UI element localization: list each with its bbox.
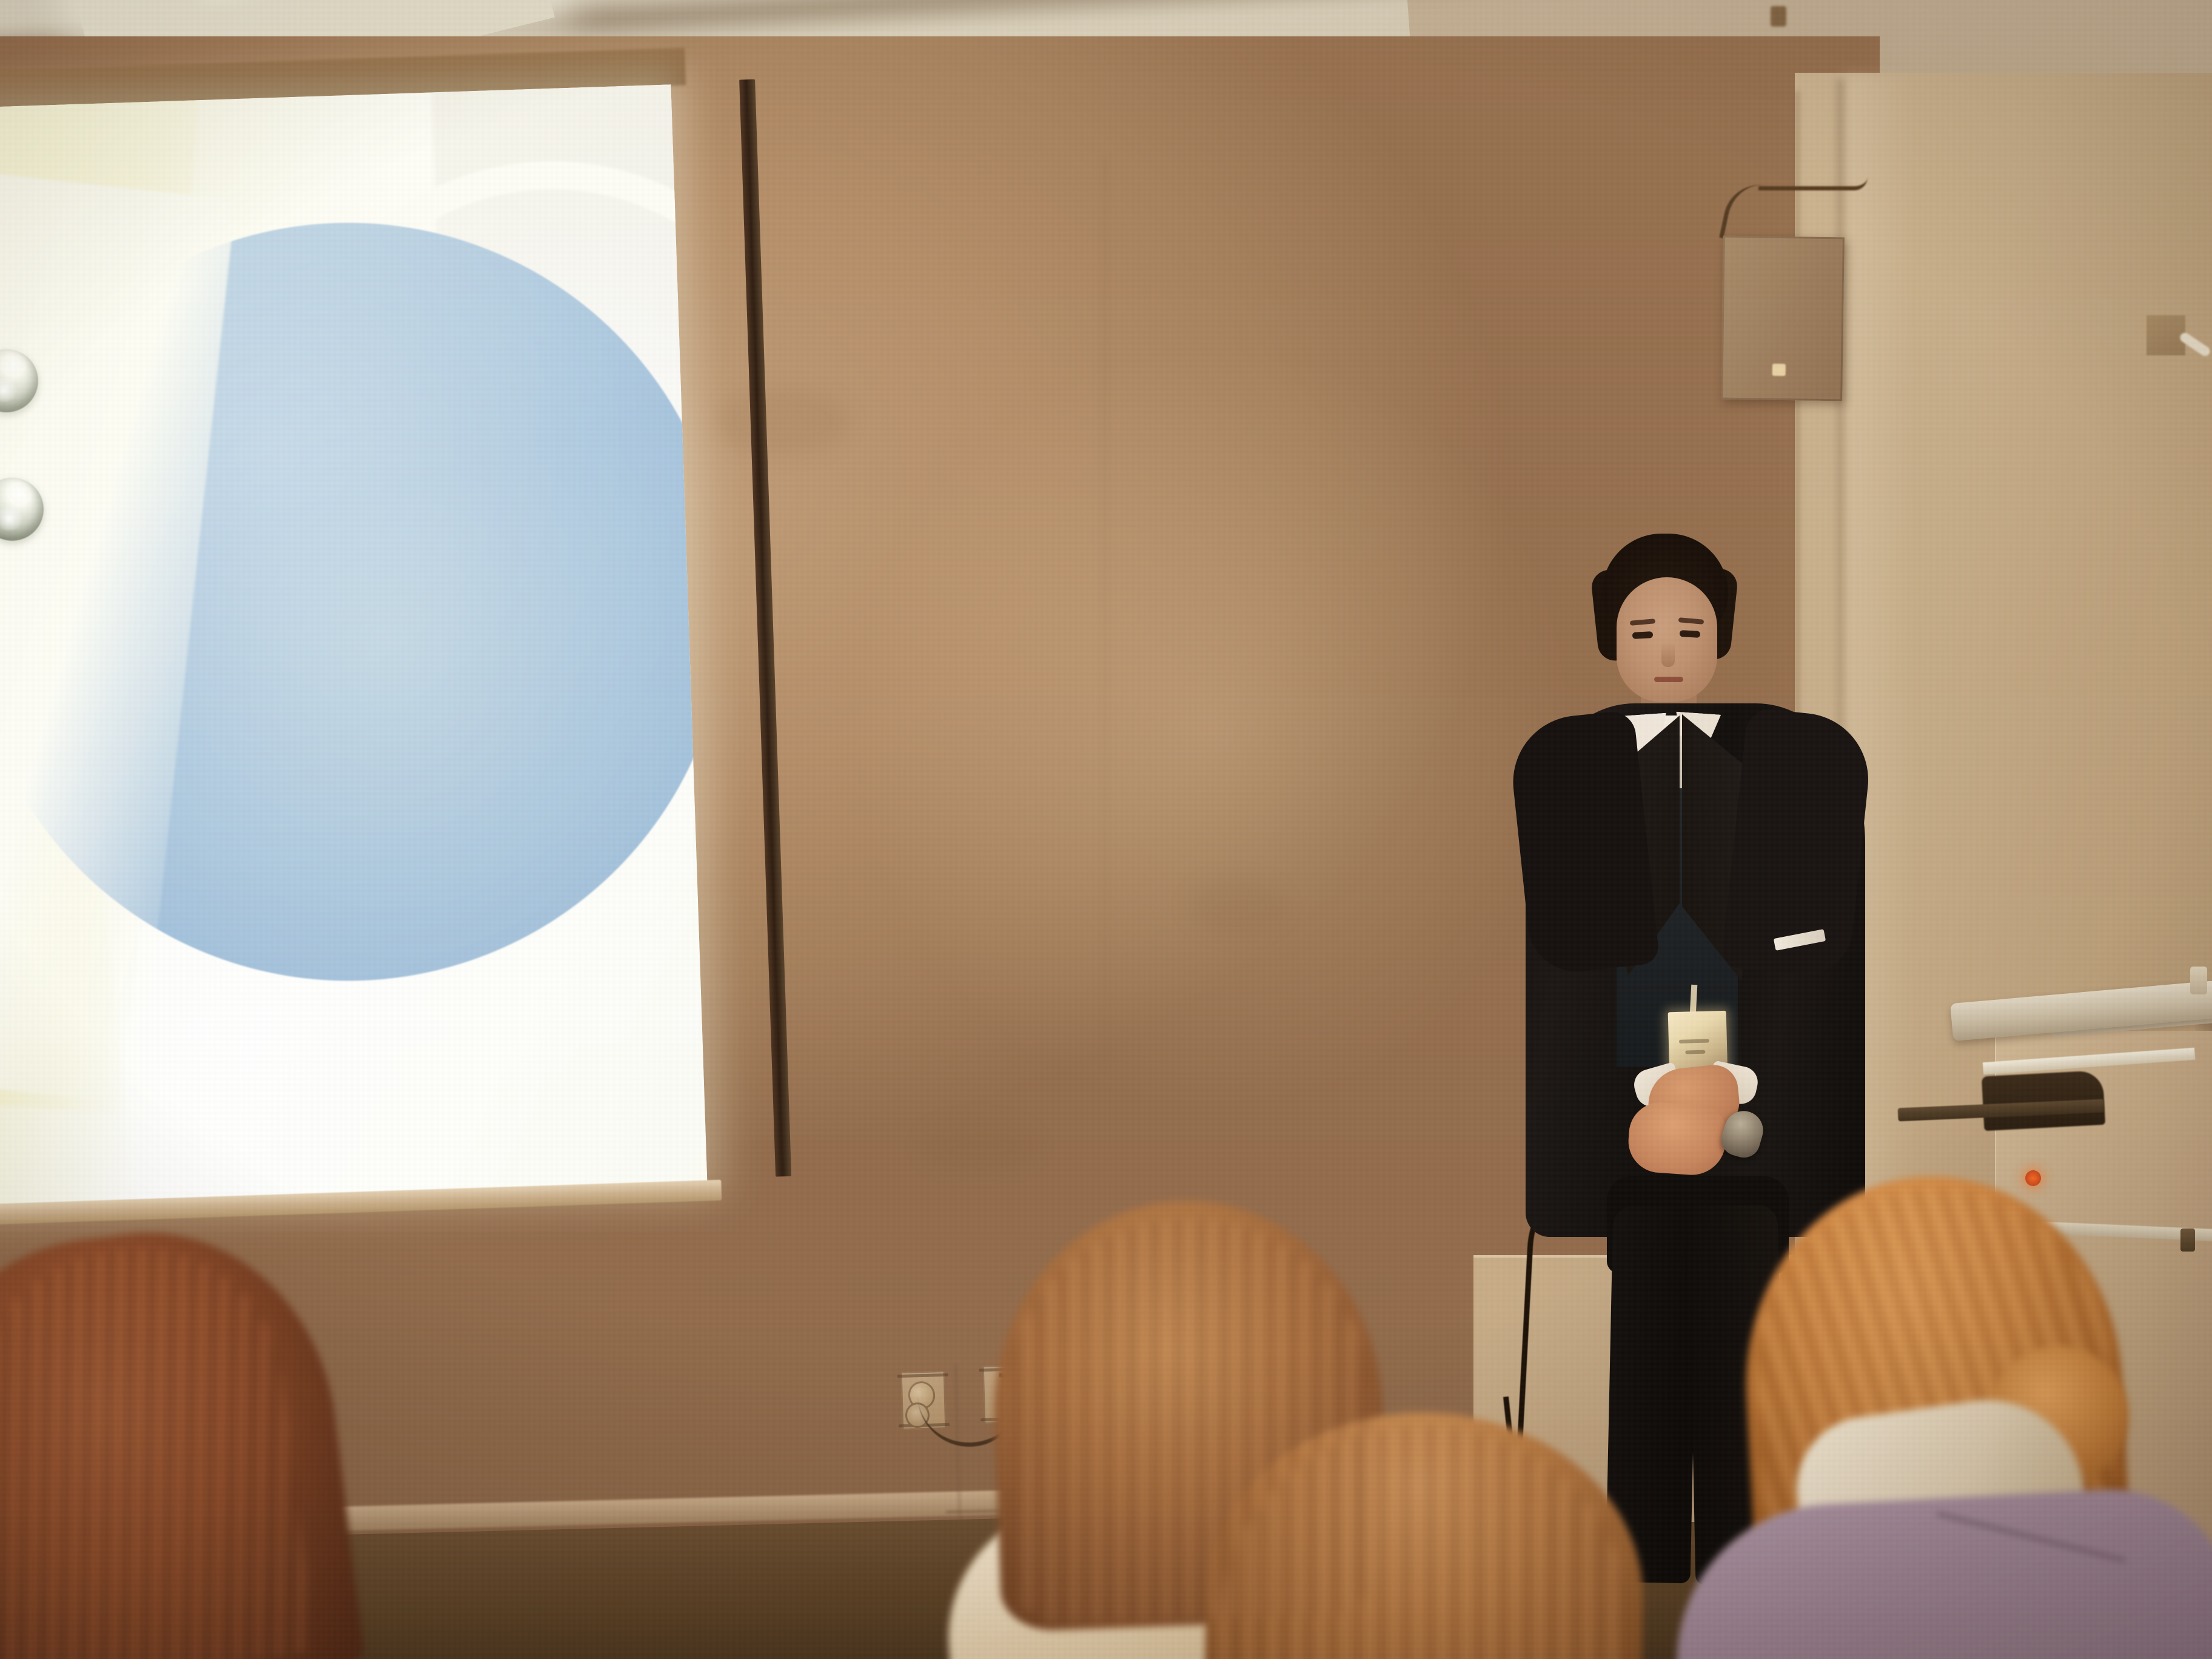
wall-speaker bbox=[1721, 236, 1845, 401]
screen-surface bbox=[0, 84, 707, 1206]
hand-right bbox=[1626, 1101, 1728, 1178]
lectern-rail-cap bbox=[2180, 1228, 2195, 1252]
wall-fixture bbox=[2147, 315, 2185, 355]
wall-smudge bbox=[922, 1122, 1037, 1170]
mouth bbox=[1654, 677, 1683, 682]
power-indicator-icon bbox=[2025, 1170, 2041, 1186]
ceiling-clip-icon bbox=[1771, 6, 1786, 27]
speaker-indicator-icon bbox=[1772, 364, 1786, 376]
speaker-cable-icon bbox=[1758, 177, 1868, 190]
wall-panel-seam bbox=[1104, 158, 1107, 1067]
projection-screen[interactable] bbox=[0, 45, 791, 1261]
eye-left bbox=[1632, 631, 1654, 639]
presentation-photograph bbox=[0, 0, 2212, 1659]
nose bbox=[1661, 642, 1675, 667]
face bbox=[1617, 577, 1717, 702]
shoulder-left bbox=[1507, 709, 1660, 976]
lectern-knob-icon[interactable] bbox=[2190, 967, 2207, 994]
wall-smudge bbox=[1188, 879, 1285, 934]
eye-right bbox=[1680, 630, 1701, 638]
